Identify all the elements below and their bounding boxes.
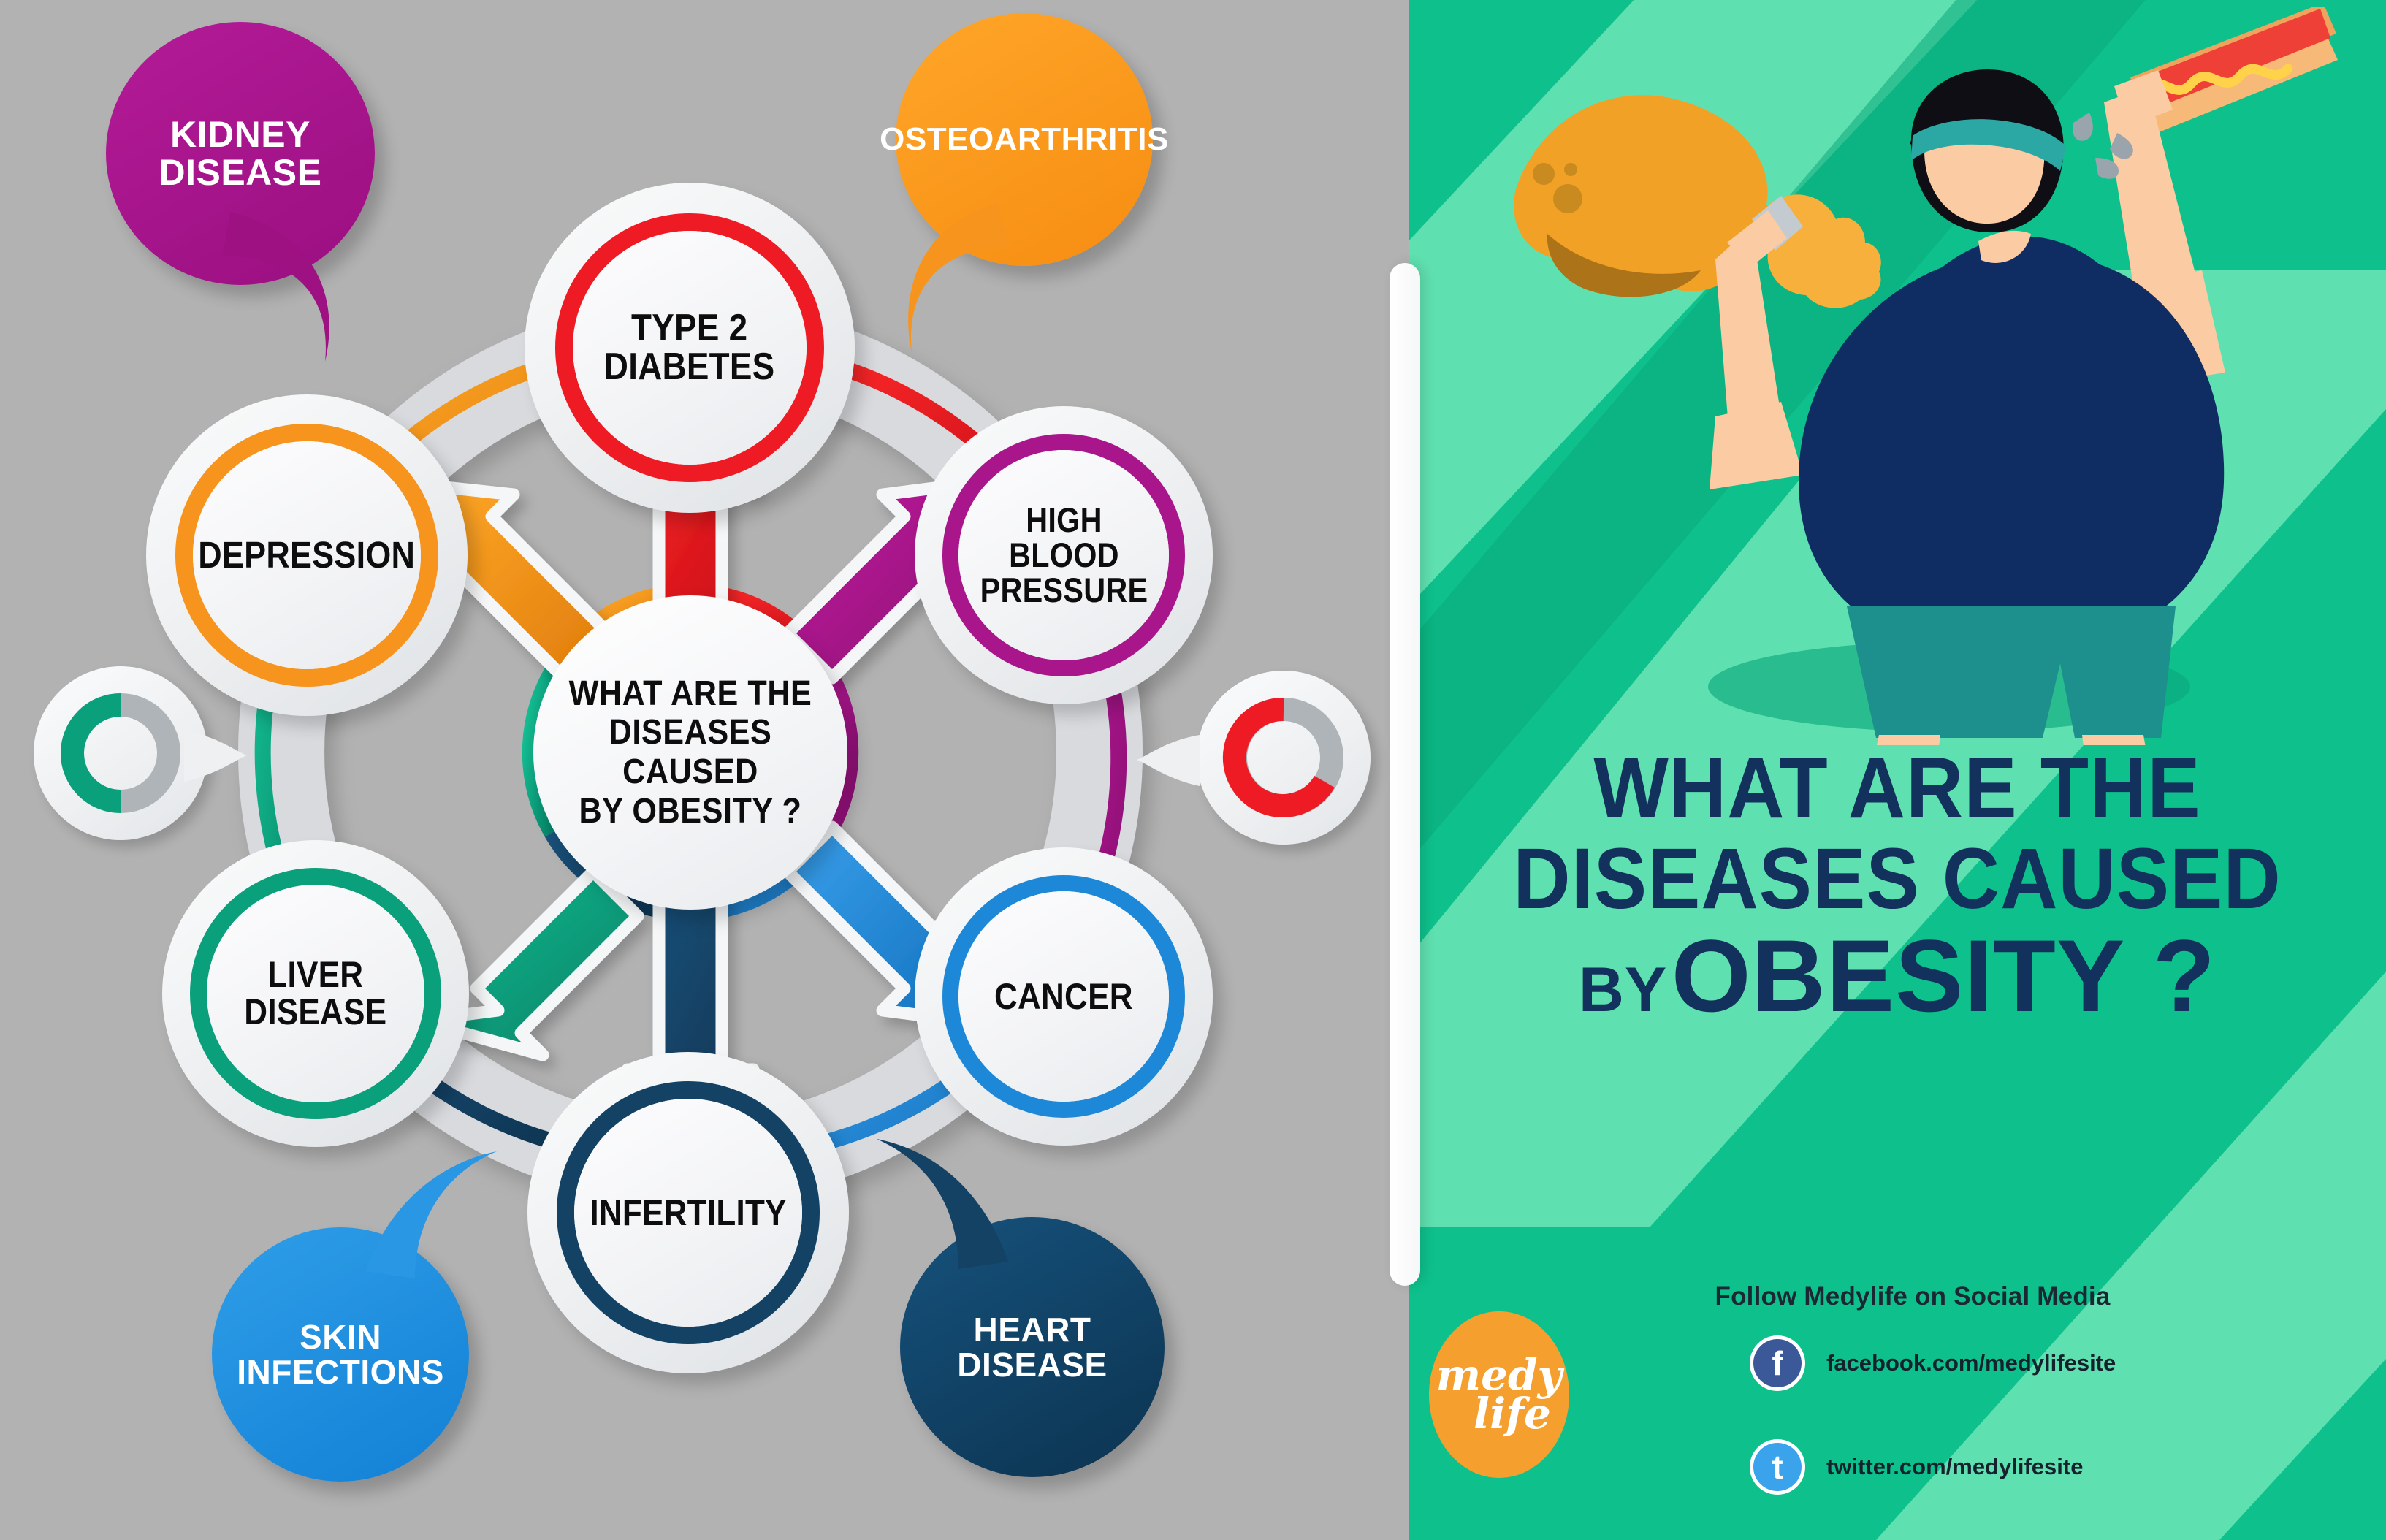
osteoarthritis-bubble-tail xyxy=(866,188,1013,357)
node-infertility[interactable]: INFERTILITY xyxy=(527,1052,849,1373)
bubble-kidney-disease-label: KIDNEY DISEASE xyxy=(147,115,333,192)
central-hub-question: WHAT ARE THE DISEASES CAUSED BY OBESITY … xyxy=(549,674,832,831)
panel-divider-bar xyxy=(1390,263,1420,1286)
infographic-canvas: KIDNEY DISEASE OSTEOARTHRITIS SKIN INFEC… xyxy=(0,0,2386,1540)
bubble-skin-infections-label: SKIN INFECTIONS xyxy=(225,1319,456,1390)
node-cancer[interactable]: CANCER xyxy=(915,847,1213,1146)
bubble-kidney-disease[interactable]: KIDNEY DISEASE xyxy=(106,22,375,285)
bubble-osteoarthritis[interactable]: OSTEOARTHRITIS xyxy=(896,13,1153,266)
node-depression-label: DEPRESSION xyxy=(199,536,416,574)
headline-line-1: WHAT ARE THE xyxy=(1448,745,2347,831)
medylife-logo[interactable]: medy life xyxy=(1429,1311,1569,1478)
mini-circle-right[interactable] xyxy=(1197,671,1371,845)
node-high-blood-pressure-inner: HIGH BLOOD PRESSURE xyxy=(958,450,1169,660)
mini-right-tail xyxy=(1132,731,1202,796)
mini-left-tail xyxy=(184,726,254,792)
right-branding-panel: WHAT ARE THE DISEASES CAUSED BY OBESITY … xyxy=(1409,0,2386,1540)
twitter-icon: t xyxy=(1753,1443,1802,1491)
node-liver-disease-inner: LIVER DISEASE xyxy=(207,885,424,1102)
left-diagram-panel: KIDNEY DISEASE OSTEOARTHRITIS SKIN INFEC… xyxy=(0,0,1409,1540)
node-depression-inner: DEPRESSION xyxy=(193,441,421,669)
node-high-blood-pressure-label: HIGH BLOOD PRESSURE xyxy=(980,503,1148,608)
mini-left-ring-icon xyxy=(34,666,207,840)
node-type-2-diabetes-inner: TYPE 2 DIABETES xyxy=(573,231,807,465)
node-infertility-label: INFERTILITY xyxy=(590,1194,786,1232)
right-panel-headline: WHAT ARE THE DISEASES CAUSED BY OBESITY … xyxy=(1409,745,2386,1027)
social-media-title: Follow Medylife on Social Media xyxy=(1628,1282,2198,1311)
facebook-url: facebook.com/medylifesite xyxy=(1826,1350,2116,1376)
node-liver-disease[interactable]: LIVER DISEASE xyxy=(162,840,469,1147)
social-link-facebook[interactable]: f facebook.com/medylifesite xyxy=(1753,1339,2116,1387)
bubble-heart-disease-label: HEART DISEASE xyxy=(945,1312,1118,1383)
central-hub[interactable]: WHAT ARE THE DISEASES CAUSED BY OBESITY … xyxy=(533,595,847,910)
logo-line-2: life xyxy=(1474,1395,1551,1433)
node-cancer-inner: CANCER xyxy=(958,891,1169,1102)
node-cancer-label: CANCER xyxy=(994,978,1133,1015)
head-group xyxy=(1910,69,2066,232)
kidney-bubble-tail xyxy=(216,205,362,373)
bubble-heart-disease[interactable]: HEART DISEASE xyxy=(900,1217,1165,1477)
headline-line-2: DISEASES CAUSED xyxy=(1448,836,2347,922)
node-type-2-diabetes[interactable]: TYPE 2 DIABETES xyxy=(525,183,855,513)
body-group xyxy=(1799,231,2224,745)
skin-infections-bubble-tail xyxy=(358,1147,504,1286)
mini-right-ring-icon xyxy=(1197,671,1371,845)
node-depression[interactable]: DEPRESSION xyxy=(146,394,468,716)
facebook-icon: f xyxy=(1753,1339,1802,1387)
node-type-2-diabetes-label: TYPE 2 DIABETES xyxy=(604,309,774,386)
node-high-blood-pressure[interactable]: HIGH BLOOD PRESSURE xyxy=(915,406,1213,704)
node-liver-disease-label: LIVER DISEASE xyxy=(244,956,386,1031)
bubble-osteoarthritis-label: OSTEOARTHRITIS xyxy=(868,123,1181,156)
obese-man-illustration xyxy=(1438,7,2358,745)
heart-disease-bubble-tail xyxy=(862,1133,1015,1279)
headline-line-3: BY OBESITY ? xyxy=(1409,925,2386,1027)
twitter-url: twitter.com/medylifesite xyxy=(1826,1454,2083,1480)
social-link-twitter[interactable]: t twitter.com/medylifesite xyxy=(1753,1443,2083,1491)
node-infertility-inner: INFERTILITY xyxy=(574,1099,802,1327)
headline-line-3-small: BY xyxy=(1579,955,1667,1025)
headline-line-3-big: OBESITY ? xyxy=(1672,918,2216,1033)
bubble-skin-infections[interactable]: SKIN INFECTIONS xyxy=(212,1227,469,1482)
mini-circle-left[interactable] xyxy=(34,666,207,840)
